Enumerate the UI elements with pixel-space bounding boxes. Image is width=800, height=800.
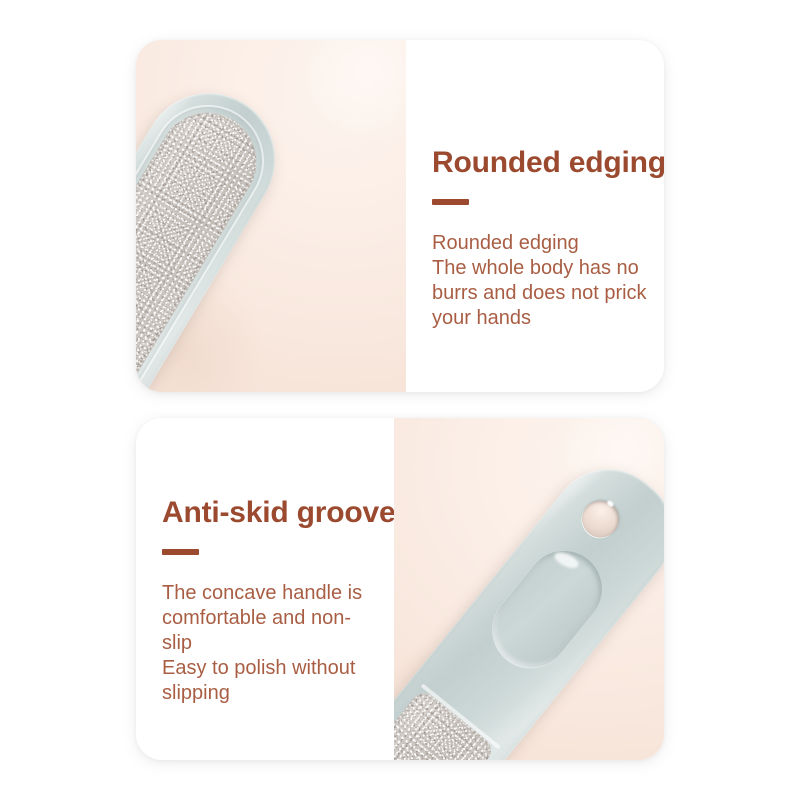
feature-description: The concave handle is comfortable and no…	[162, 581, 380, 706]
product-photo-handle-groove	[394, 418, 664, 760]
accent-dash-divider	[432, 199, 469, 205]
feature-text-pane: Rounded edging Rounded edging The whole …	[406, 40, 664, 392]
product-feature-infographic: Rounded edging Rounded edging The whole …	[0, 0, 800, 800]
feature-card-anti-skid-groove: Anti-skid groove The concave handle is c…	[136, 418, 664, 760]
product-photo-rounded-tip	[136, 40, 406, 392]
feature-title: Rounded edging	[432, 146, 650, 179]
feature-description: Rounded edging The whole body has no bur…	[432, 231, 650, 331]
feature-text-block: Anti-skid groove The concave handle is c…	[162, 496, 380, 706]
accent-dash-divider	[162, 549, 199, 555]
feature-card-rounded-edging: Rounded edging Rounded edging The whole …	[136, 40, 664, 392]
feature-text-pane: Anti-skid groove The concave handle is c…	[136, 418, 394, 760]
feature-text-block: Rounded edging Rounded edging The whole …	[432, 146, 650, 331]
feature-title: Anti-skid groove	[162, 496, 380, 529]
